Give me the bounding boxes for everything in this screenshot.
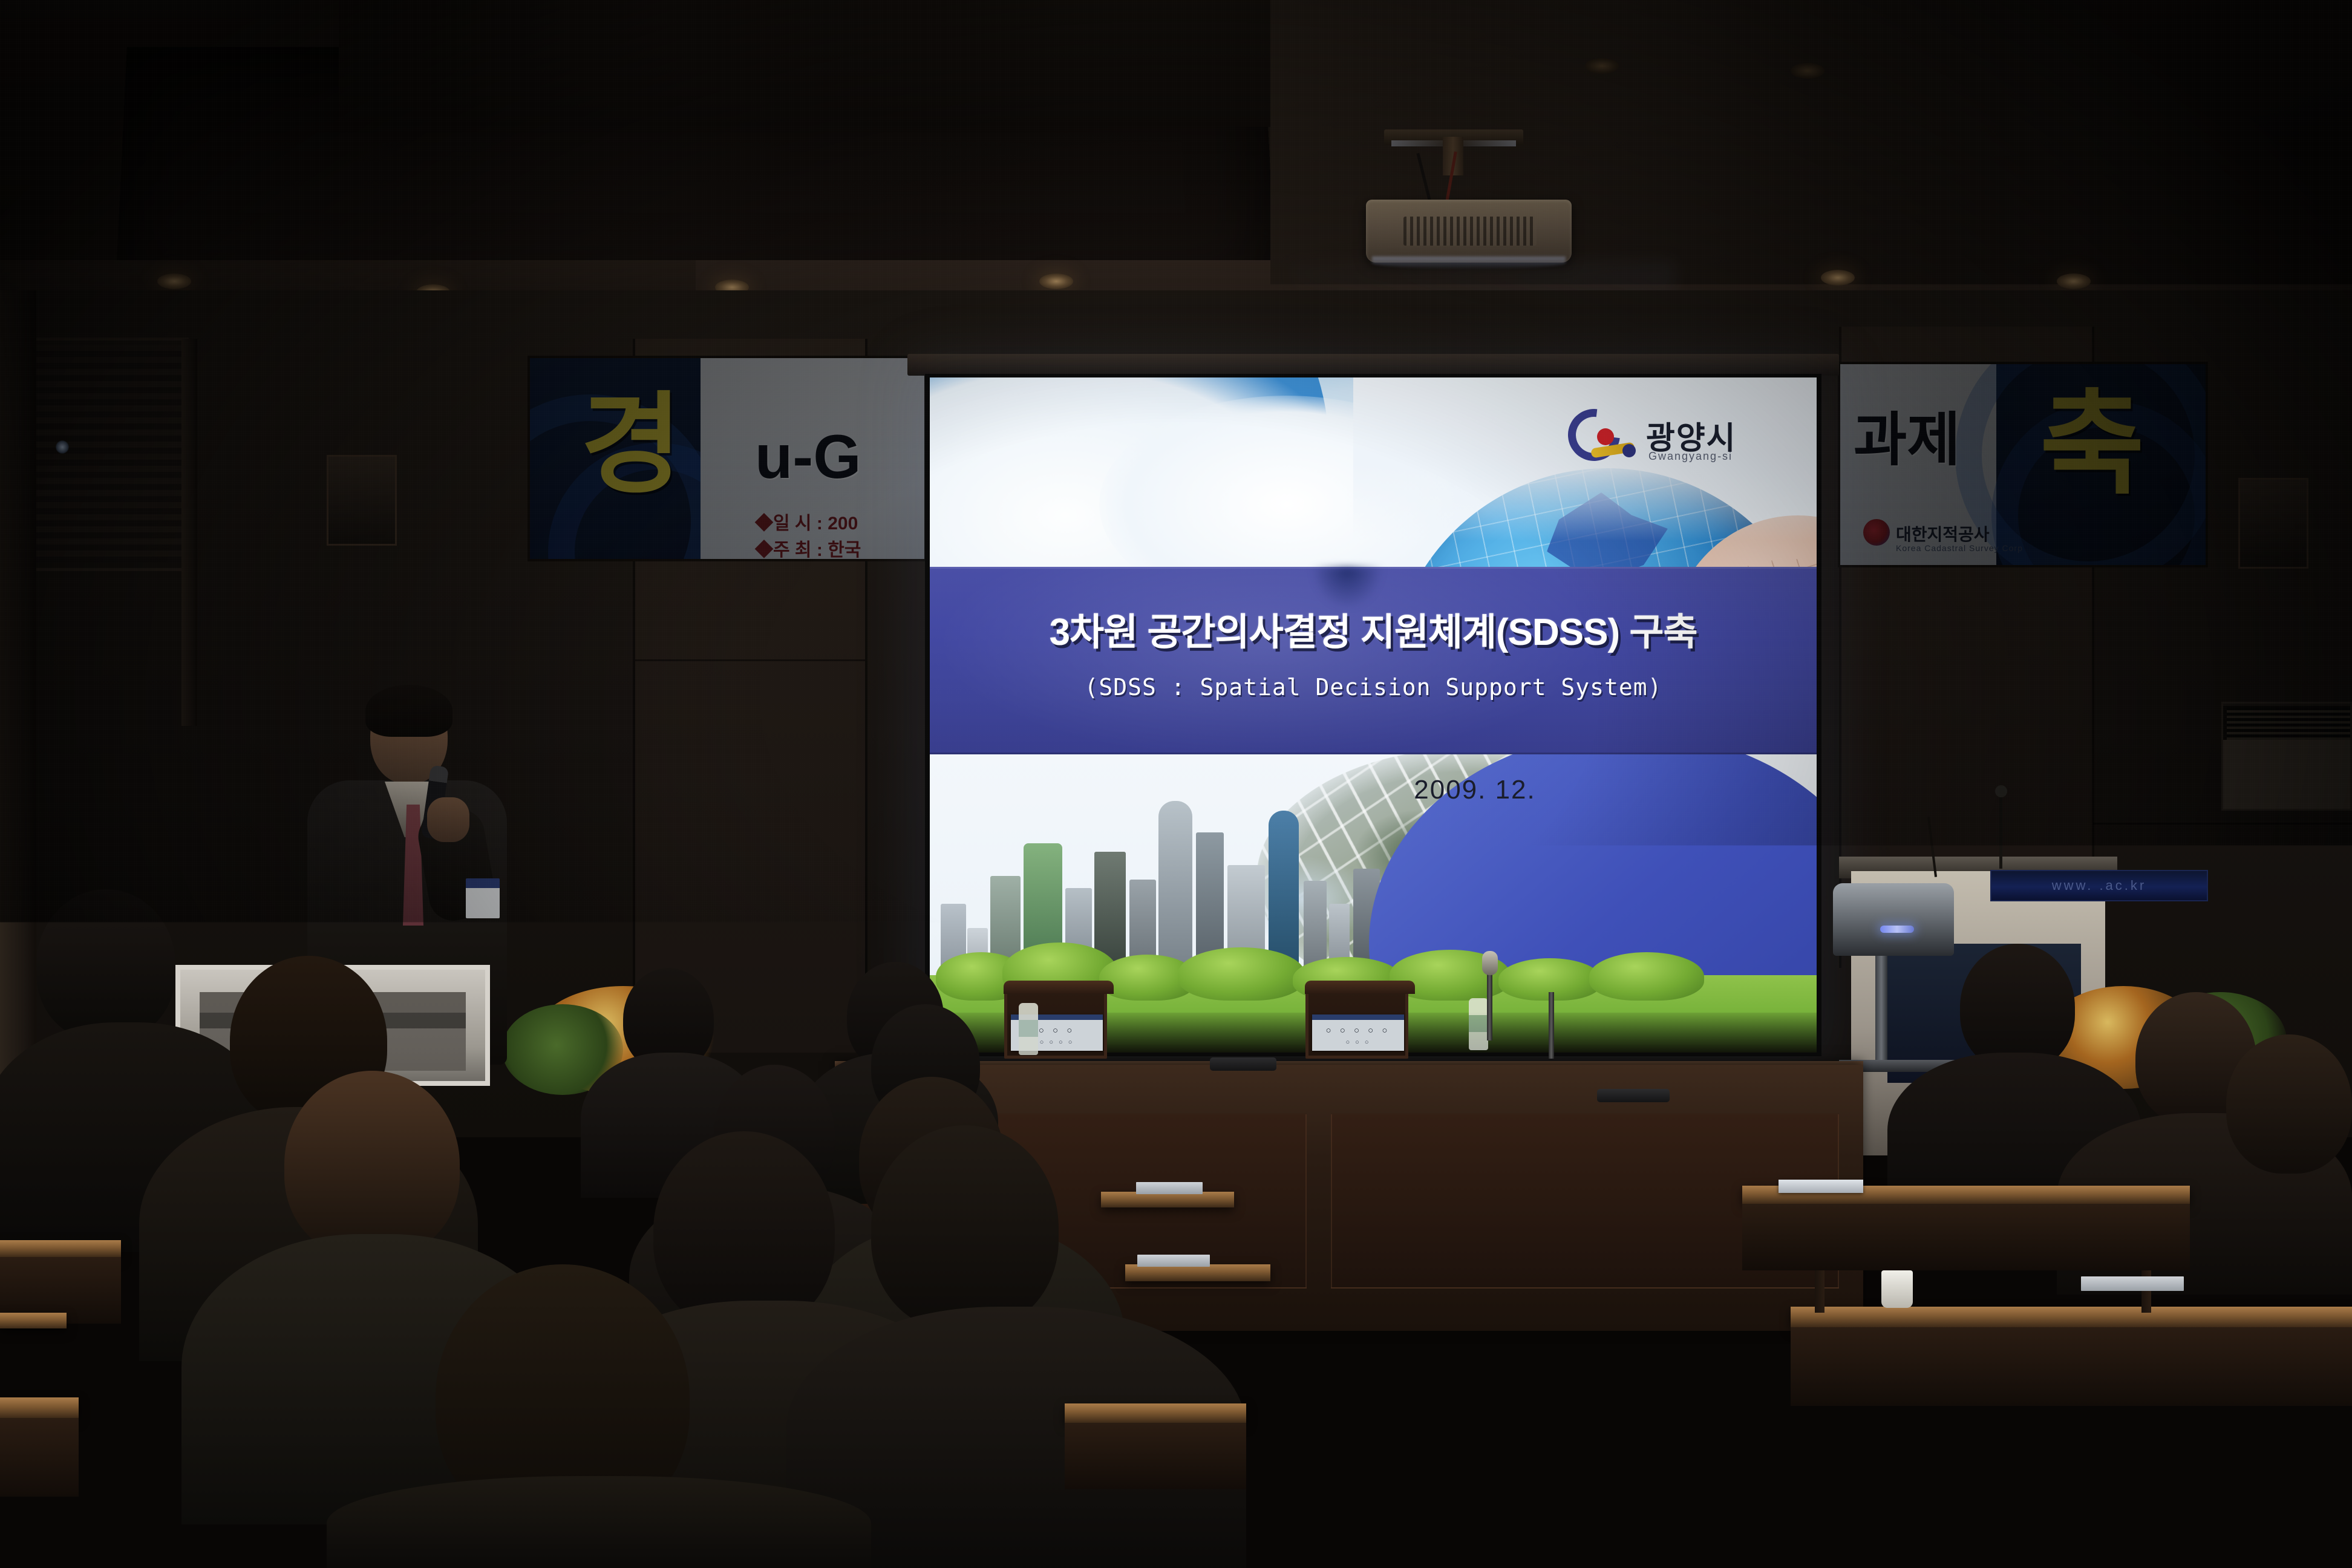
- ceiling-coffer-inner: [339, 0, 1270, 127]
- banner-left-line2: ◆주 최 : 한국: [755, 535, 861, 561]
- banner-right-org-ko: 대한지적공사: [1896, 521, 1990, 546]
- document-camera-stand: [1875, 956, 1887, 1065]
- audience-desk: [1990, 1434, 2352, 1458]
- wall-air-conditioner: [2221, 702, 2352, 811]
- slide-date: 2009. 12.: [1414, 775, 1536, 805]
- document-camera-led-icon: [1880, 926, 1914, 933]
- paper-cup: [1881, 1270, 1913, 1308]
- audience-desk-front: [1065, 1423, 1246, 1489]
- gwangyang-logo-name-en: Gwangyang-si: [1648, 450, 1733, 463]
- slide-bush: [1178, 947, 1305, 1001]
- downlight-icon: [1585, 58, 1619, 74]
- event-banner-left: 경 u-G ◆일 시 : 200 ◆주 최 : 한국: [528, 356, 927, 561]
- nameplate-title: ○ ○ ○: [1312, 1039, 1404, 1046]
- audience-desk: [0, 1240, 121, 1257]
- banner-left-headline: u-G: [755, 426, 861, 488]
- downlight-icon: [1821, 270, 1855, 286]
- downlight-icon: [2057, 273, 2091, 289]
- audience-desk: [0, 1397, 79, 1418]
- paper-sheet: [2081, 1276, 2184, 1291]
- screen-housing: [907, 354, 1839, 376]
- downlight-icon: [157, 273, 191, 289]
- banner-right-org-en: Korea Cadastral Survey Corp: [1896, 543, 2023, 553]
- gooseneck-microphone-head[interactable]: [1995, 785, 2007, 797]
- audience-desk-front: [0, 1418, 79, 1497]
- event-banner-right: 과제 축 대한지적공사 Korea Cadastral Survey Corp: [1838, 362, 2208, 567]
- projector-lens-glow: [1372, 256, 1566, 269]
- audience-head: [36, 889, 175, 1040]
- wall-seam: [635, 659, 865, 661]
- nameplate-crown: [1305, 981, 1415, 994]
- presentation-slide: 광양시 Gwangyang-si 3차원 공간의사결정 지원체계(SDSS) 구…: [930, 377, 1817, 1053]
- nameplate-name: ○ ○ ○ ○ ○: [1312, 1025, 1404, 1036]
- document-camera[interactable]: [1833, 883, 1954, 956]
- water-bottle: [1469, 998, 1488, 1050]
- audience-desk-front: [1990, 1458, 2352, 1568]
- slide-subtitle: (SDSS : Spatial Decision Support System): [930, 674, 1817, 701]
- wall-seam: [2093, 823, 2352, 825]
- nameplate: ○ ○ ○ ○ ○ ○ ○ ○: [1305, 986, 1408, 1059]
- wall-speaker: [327, 455, 397, 546]
- banner-right-headline: 과제: [1854, 411, 1961, 469]
- water-bottle: [1019, 1003, 1038, 1055]
- nameplate-crown: [1004, 981, 1114, 994]
- banner-right-big-char: 축: [2040, 387, 2145, 501]
- projection-screen: 광양시 Gwangyang-si 3차원 공간의사결정 지원체계(SDSS) 구…: [925, 374, 1821, 1056]
- projector-ports: [1403, 217, 1537, 246]
- air-conditioner-vent: [2227, 707, 2350, 740]
- downlight-icon: [1039, 273, 1073, 289]
- audience-head: [871, 1125, 1059, 1331]
- banner-left-line1: ◆일 시 : 200: [755, 508, 858, 535]
- presenter-name-badge: [466, 878, 500, 918]
- podium-website-sign[interactable]: www. .ac.kr: [1990, 870, 2208, 901]
- desk-microphone-stand: [1487, 968, 1492, 1040]
- desk-microphone: [1597, 1089, 1670, 1102]
- gwangyang-logo-dot-icon: [1597, 428, 1614, 445]
- audience-desk: [1125, 1264, 1270, 1281]
- wall-column: [0, 290, 36, 1077]
- gooseneck-microphone[interactable]: [1999, 790, 2002, 869]
- audience-desk: [1791, 1307, 2352, 1327]
- podium-website-text: www. .ac.kr: [2052, 878, 2146, 893]
- emergency-light-icon: [56, 440, 69, 454]
- desk-microphone-stand: [1549, 992, 1554, 1059]
- slide-date-row: 2009. 12.: [930, 775, 1817, 805]
- presenter-hair: [365, 685, 452, 737]
- paper-sheet: [1137, 1255, 1210, 1267]
- auditorium-photo: 경 u-G ◆일 시 : 200 ◆주 최 : 한국 과제 축 대한지적공사 K…: [0, 0, 2352, 1568]
- audience-desk: [0, 1313, 67, 1328]
- document-booklet: [2069, 1410, 2220, 1435]
- slide-title: 3차원 공간의사결정 지원체계(SDSS) 구축: [930, 601, 1817, 656]
- cadastral-logo-icon: [1863, 519, 1890, 546]
- desk-microphone: [1210, 1057, 1276, 1071]
- wall-speaker: [2238, 478, 2308, 569]
- presenter-hand: [427, 797, 469, 842]
- desk-leg: [2057, 1406, 2068, 1440]
- slide-header-image: 광양시 Gwangyang-si: [930, 377, 1817, 567]
- document-booklet: [1779, 1180, 1863, 1193]
- desk-leg: [1815, 1270, 1824, 1313]
- audience-desk-front: [1742, 1204, 2190, 1270]
- downlight-icon: [1791, 63, 1824, 79]
- paper-sheet: [1136, 1182, 1203, 1194]
- gwangyang-logo-tip-icon: [1622, 444, 1636, 457]
- audience-shoulders: [327, 1476, 871, 1568]
- audience-head: [2226, 1034, 2352, 1174]
- audience-head-bald: [284, 1071, 460, 1258]
- banner-left-big-char: 경: [581, 390, 682, 500]
- desk-microphone-head: [1482, 951, 1498, 975]
- window-blinds: [36, 345, 181, 563]
- slide-bush: [1589, 952, 1704, 1001]
- wall-column: [181, 339, 197, 726]
- nameplate-card: ○ ○ ○ ○ ○ ○ ○ ○: [1312, 1014, 1404, 1051]
- audience-desk: [1065, 1403, 1246, 1423]
- audience-desk-front: [1791, 1327, 2352, 1406]
- audience-head: [1960, 944, 2075, 1071]
